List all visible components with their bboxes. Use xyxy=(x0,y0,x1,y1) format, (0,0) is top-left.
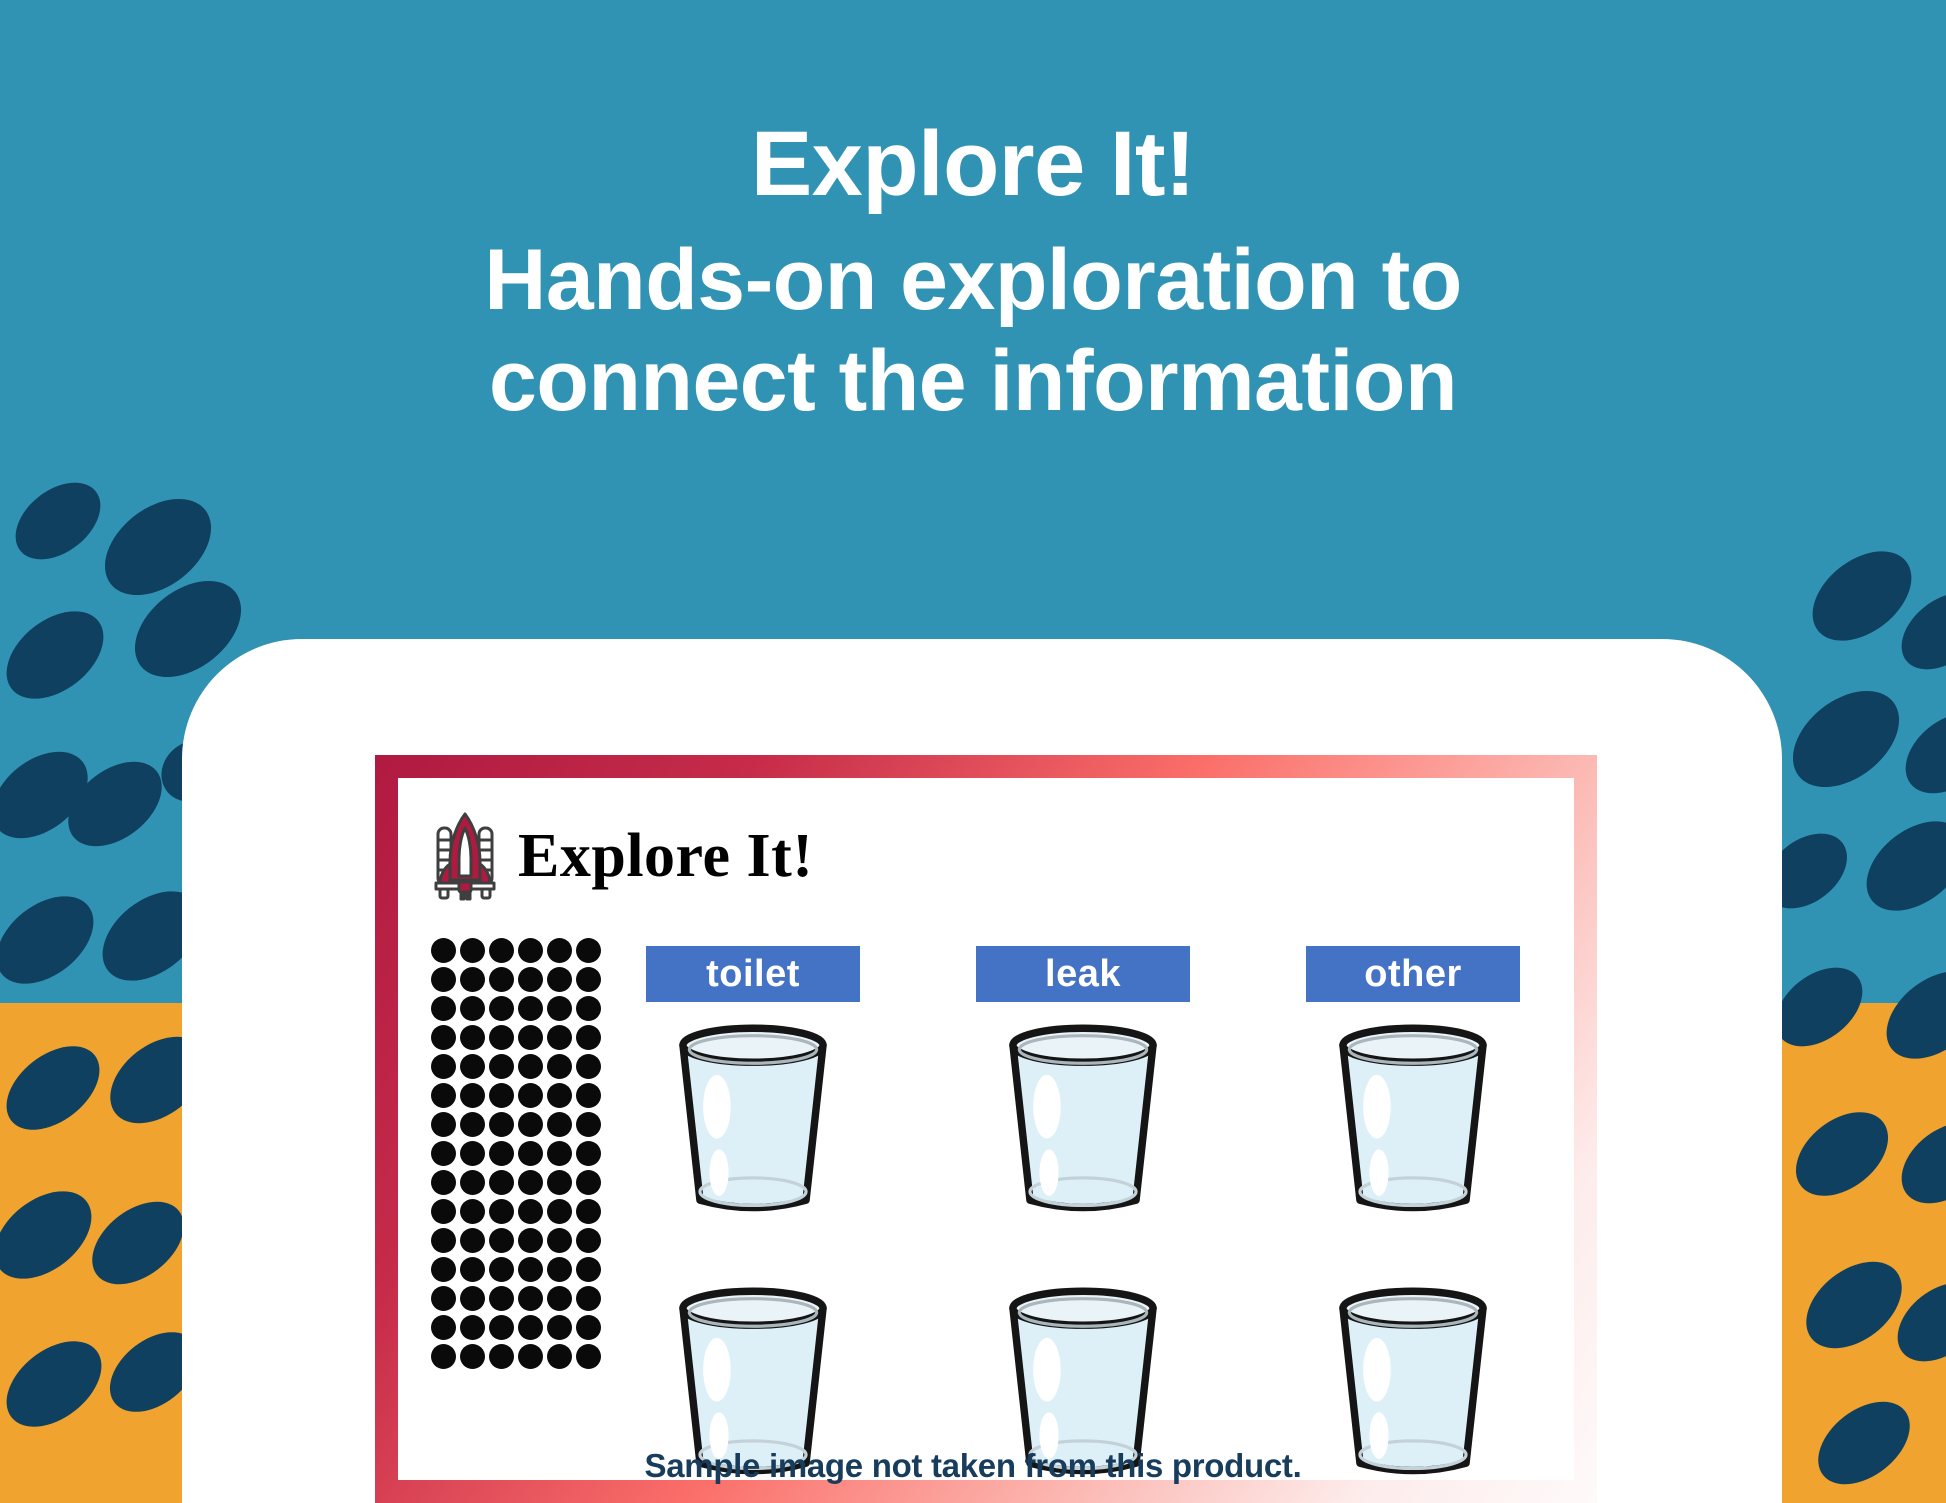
grid-dot xyxy=(489,1344,514,1369)
grid-dot xyxy=(576,938,601,963)
headline-line-3: connect the information xyxy=(0,331,1946,432)
grid-dot xyxy=(518,1199,543,1224)
grid-dot xyxy=(489,938,514,963)
grid-dot xyxy=(489,1228,514,1253)
column-label-toilet[interactable]: toilet xyxy=(646,946,860,1002)
grid-dot xyxy=(518,1315,543,1340)
grid-dot xyxy=(460,938,485,963)
grid-dot xyxy=(576,1025,601,1050)
grid-dot xyxy=(518,1170,543,1195)
grid-dot xyxy=(460,996,485,1021)
grid-dot xyxy=(518,1286,543,1311)
grid-dot xyxy=(489,1286,514,1311)
glass-slot xyxy=(998,1024,1168,1215)
category-columns: toiletleakother xyxy=(613,946,1553,1478)
grid-dot xyxy=(431,967,456,992)
grid-dot xyxy=(547,967,572,992)
grid-dot xyxy=(431,1228,456,1253)
grid-dot xyxy=(547,1344,572,1369)
grid-dot xyxy=(576,1141,601,1166)
dot-grid xyxy=(431,938,603,1371)
grid-dot xyxy=(547,1315,572,1340)
grid-dot xyxy=(460,1286,485,1311)
grid-dot xyxy=(489,1170,514,1195)
category-column-leak: leak xyxy=(943,946,1223,1478)
headline: Explore It! Hands-on exploration to conn… xyxy=(0,118,1946,431)
grid-dot xyxy=(576,1170,601,1195)
grid-dot xyxy=(431,1141,456,1166)
grid-dot xyxy=(460,1228,485,1253)
grid-dot xyxy=(576,1228,601,1253)
grid-dot xyxy=(576,1083,601,1108)
grid-dot xyxy=(460,1112,485,1137)
grid-dot xyxy=(518,1257,543,1282)
grid-dot xyxy=(547,1083,572,1108)
worksheet-content: Explore It! toiletleakother xyxy=(398,778,1574,1480)
grid-dot xyxy=(460,1170,485,1195)
water-glass-icon xyxy=(998,1024,1168,1215)
grid-dot xyxy=(460,1083,485,1108)
grid-dot xyxy=(518,996,543,1021)
grid-dot xyxy=(431,1344,456,1369)
grid-dot xyxy=(576,1315,601,1340)
grid-dot xyxy=(460,1315,485,1340)
grid-dot xyxy=(518,1228,543,1253)
headline-line-2: Hands-on exploration to xyxy=(0,230,1946,331)
grid-dot xyxy=(489,1112,514,1137)
grid-dot xyxy=(431,1170,456,1195)
headline-line-1: Explore It! xyxy=(0,118,1946,210)
grid-dot xyxy=(489,967,514,992)
category-column-toilet: toilet xyxy=(613,946,893,1478)
grid-dot xyxy=(518,1141,543,1166)
glass-slot xyxy=(1328,1024,1498,1215)
grid-dot xyxy=(547,1025,572,1050)
grid-dot xyxy=(518,1054,543,1079)
grid-dot xyxy=(576,967,601,992)
grid-dot xyxy=(518,938,543,963)
grid-dot xyxy=(489,1141,514,1166)
grid-dot xyxy=(460,1257,485,1282)
grid-dot xyxy=(547,996,572,1021)
grid-dot xyxy=(431,996,456,1021)
grid-dot xyxy=(547,1141,572,1166)
worksheet-title: Explore It! xyxy=(518,821,813,892)
grid-dot xyxy=(489,1054,514,1079)
worksheet-header: Explore It! xyxy=(434,810,813,902)
grid-dot xyxy=(460,1141,485,1166)
grid-dot xyxy=(547,1199,572,1224)
grid-dot xyxy=(489,1025,514,1050)
grid-dot xyxy=(547,1286,572,1311)
grid-dot xyxy=(547,1054,572,1079)
water-glass-icon xyxy=(668,1024,838,1215)
grid-dot xyxy=(576,996,601,1021)
grid-dot xyxy=(489,1257,514,1282)
grid-dot xyxy=(518,1112,543,1137)
category-column-other: other xyxy=(1273,946,1553,1478)
grid-dot xyxy=(431,1112,456,1137)
grid-dot xyxy=(431,938,456,963)
grid-dot xyxy=(576,1112,601,1137)
column-label-other[interactable]: other xyxy=(1306,946,1520,1002)
grid-dot xyxy=(576,1257,601,1282)
grid-dot xyxy=(576,1286,601,1311)
grid-dot xyxy=(547,1257,572,1282)
grid-dot xyxy=(431,1083,456,1108)
rocket-icon xyxy=(434,810,496,902)
grid-dot xyxy=(576,1054,601,1079)
water-glass-icon xyxy=(1328,1024,1498,1215)
grid-dot xyxy=(460,1025,485,1050)
grid-dot xyxy=(460,1199,485,1224)
grid-dot xyxy=(518,967,543,992)
grid-dot xyxy=(518,1344,543,1369)
grid-dot xyxy=(576,1199,601,1224)
grid-dot xyxy=(489,1083,514,1108)
promotional-graphic: Explore It! Hands-on exploration to conn… xyxy=(0,0,1946,1503)
grid-dot xyxy=(460,1344,485,1369)
grid-dot xyxy=(489,1199,514,1224)
grid-dot xyxy=(518,1025,543,1050)
grid-dot xyxy=(460,1054,485,1079)
grid-dot xyxy=(431,1199,456,1224)
grid-dot xyxy=(431,1315,456,1340)
grid-dot xyxy=(431,1286,456,1311)
grid-dot xyxy=(518,1083,543,1108)
grid-dot xyxy=(547,1170,572,1195)
grid-dot xyxy=(547,938,572,963)
disclaimer-caption: Sample image not taken from this product… xyxy=(0,1447,1946,1485)
grid-dot xyxy=(547,1228,572,1253)
worksheet-page: Explore It! toiletleakother xyxy=(375,755,1597,1503)
grid-dot xyxy=(489,996,514,1021)
column-label-leak[interactable]: leak xyxy=(976,946,1190,1002)
grid-dot xyxy=(460,967,485,992)
grid-dot xyxy=(576,1344,601,1369)
glass-slot xyxy=(668,1024,838,1215)
grid-dot xyxy=(431,1025,456,1050)
grid-dot xyxy=(431,1257,456,1282)
grid-dot xyxy=(547,1112,572,1137)
grid-dot xyxy=(489,1315,514,1340)
grid-dot xyxy=(431,1054,456,1079)
